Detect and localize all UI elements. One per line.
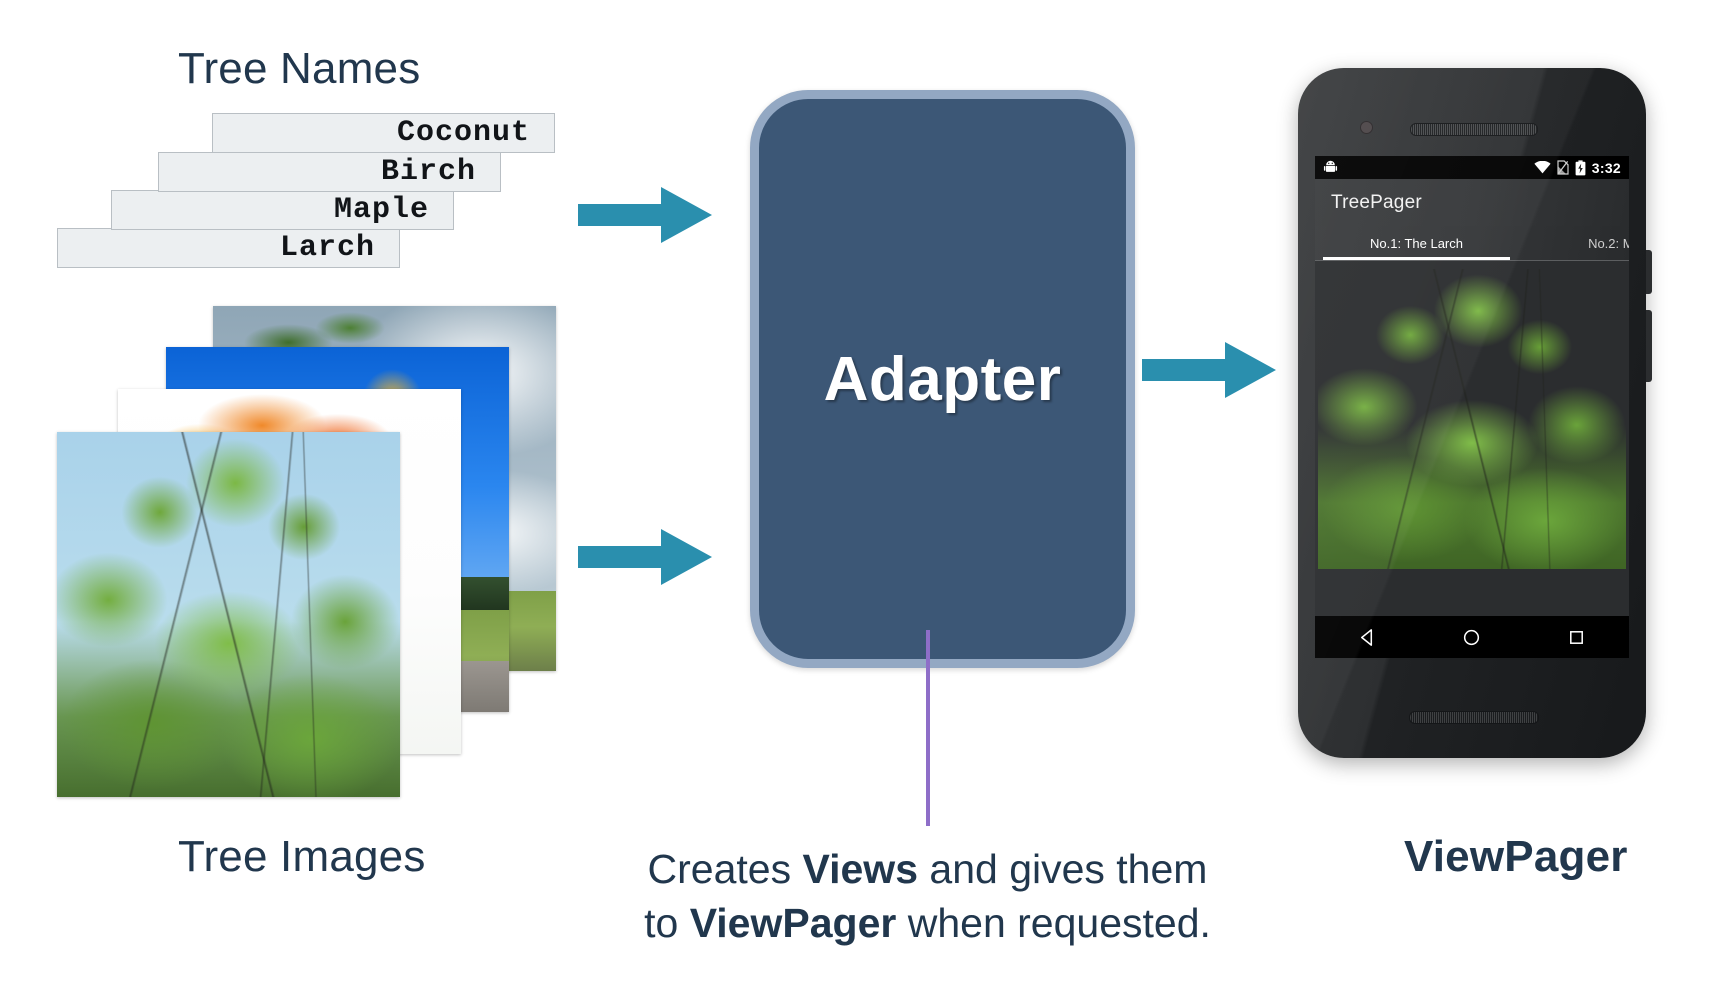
caption-line-1: Creates Views and gives them	[600, 842, 1255, 896]
tree-names-heading: Tree Names	[178, 44, 420, 94]
battery-charging-icon	[1575, 160, 1586, 176]
no-sim-icon	[1557, 160, 1569, 175]
adapter-caption: Creates Views and gives them to ViewPage…	[600, 842, 1255, 950]
volume-button[interactable]	[1646, 310, 1652, 382]
status-bar: 3:32	[1315, 156, 1629, 179]
bottom-speaker	[1409, 711, 1539, 724]
caption-l2-bold: ViewPager	[690, 900, 897, 946]
caption-line-2: to ViewPager when requested.	[600, 896, 1255, 950]
adapter-caption-connector	[926, 630, 930, 826]
adapter-box: Adapter	[750, 90, 1135, 668]
navigation-bar[interactable]	[1315, 616, 1629, 658]
name-card-label: Maple	[334, 193, 429, 227]
adapter-to-viewpager-arrow	[1142, 340, 1277, 400]
tab-label: No.2: Mapl	[1588, 236, 1629, 251]
caption-l1-post: and gives them	[918, 846, 1207, 892]
app-title: TreePager	[1331, 192, 1422, 214]
arrow-right-icon	[1142, 340, 1277, 400]
caption-l2-post: when requested.	[896, 900, 1211, 946]
names-to-adapter-arrow	[578, 185, 713, 245]
name-card-maple: Maple	[111, 190, 454, 230]
pager-larch-photo	[1318, 269, 1626, 569]
phone-screen: 3:32 TreePager No.1: The Larch No.2: Map…	[1315, 156, 1629, 658]
android-icon	[1323, 160, 1338, 175]
caption-l1-bold: Views	[803, 846, 919, 892]
front-camera-icon	[1360, 121, 1373, 134]
larch-branches	[57, 432, 400, 797]
name-card-label: Larch	[280, 231, 375, 265]
caption-l2-pre: to	[644, 900, 690, 946]
name-card-birch: Birch	[158, 152, 501, 192]
pager-photo-branches	[1318, 269, 1626, 569]
recents-button[interactable]	[1567, 628, 1586, 647]
name-card-larch: Larch	[57, 228, 400, 268]
name-card-coconut: Coconut	[212, 113, 555, 153]
name-card-label: Coconut	[397, 116, 530, 150]
images-to-adapter-arrow	[578, 527, 713, 587]
tab-no-2-maple[interactable]: No.2: Mapl	[1518, 226, 1629, 260]
status-time: 3:32	[1592, 160, 1621, 176]
android-glyph	[1323, 160, 1338, 175]
wifi-icon	[1534, 161, 1551, 174]
arrow-right-icon	[578, 527, 713, 587]
tab-strip[interactable]: No.1: The Larch No.2: Mapl	[1315, 226, 1629, 261]
diagram-canvas: Tree Names Coconut Birch Maple Larch Tre…	[0, 0, 1720, 982]
power-button[interactable]	[1646, 250, 1652, 294]
tab-label: No.1: The Larch	[1370, 236, 1463, 251]
status-icons-group: 3:32	[1534, 160, 1621, 176]
adapter-label: Adapter	[824, 344, 1062, 415]
recents-icon	[1567, 628, 1586, 647]
phone-device: 3:32 TreePager No.1: The Larch No.2: Map…	[1298, 68, 1646, 758]
back-button[interactable]	[1358, 628, 1377, 647]
name-card-label: Birch	[381, 155, 476, 189]
tree-images-label: Tree Images	[178, 832, 426, 882]
tab-no-1-the-larch[interactable]: No.1: The Larch	[1315, 226, 1518, 260]
back-icon	[1358, 628, 1377, 647]
arrow-right-icon	[578, 185, 713, 245]
home-icon	[1462, 628, 1481, 647]
view-pager-label: ViewPager	[1404, 832, 1628, 882]
earpiece-speaker	[1410, 123, 1538, 136]
action-bar: TreePager	[1315, 179, 1629, 226]
image-card-larch	[57, 432, 400, 797]
home-button[interactable]	[1462, 628, 1481, 647]
pager-content[interactable]	[1315, 261, 1629, 616]
caption-l1-pre: Creates	[648, 846, 803, 892]
